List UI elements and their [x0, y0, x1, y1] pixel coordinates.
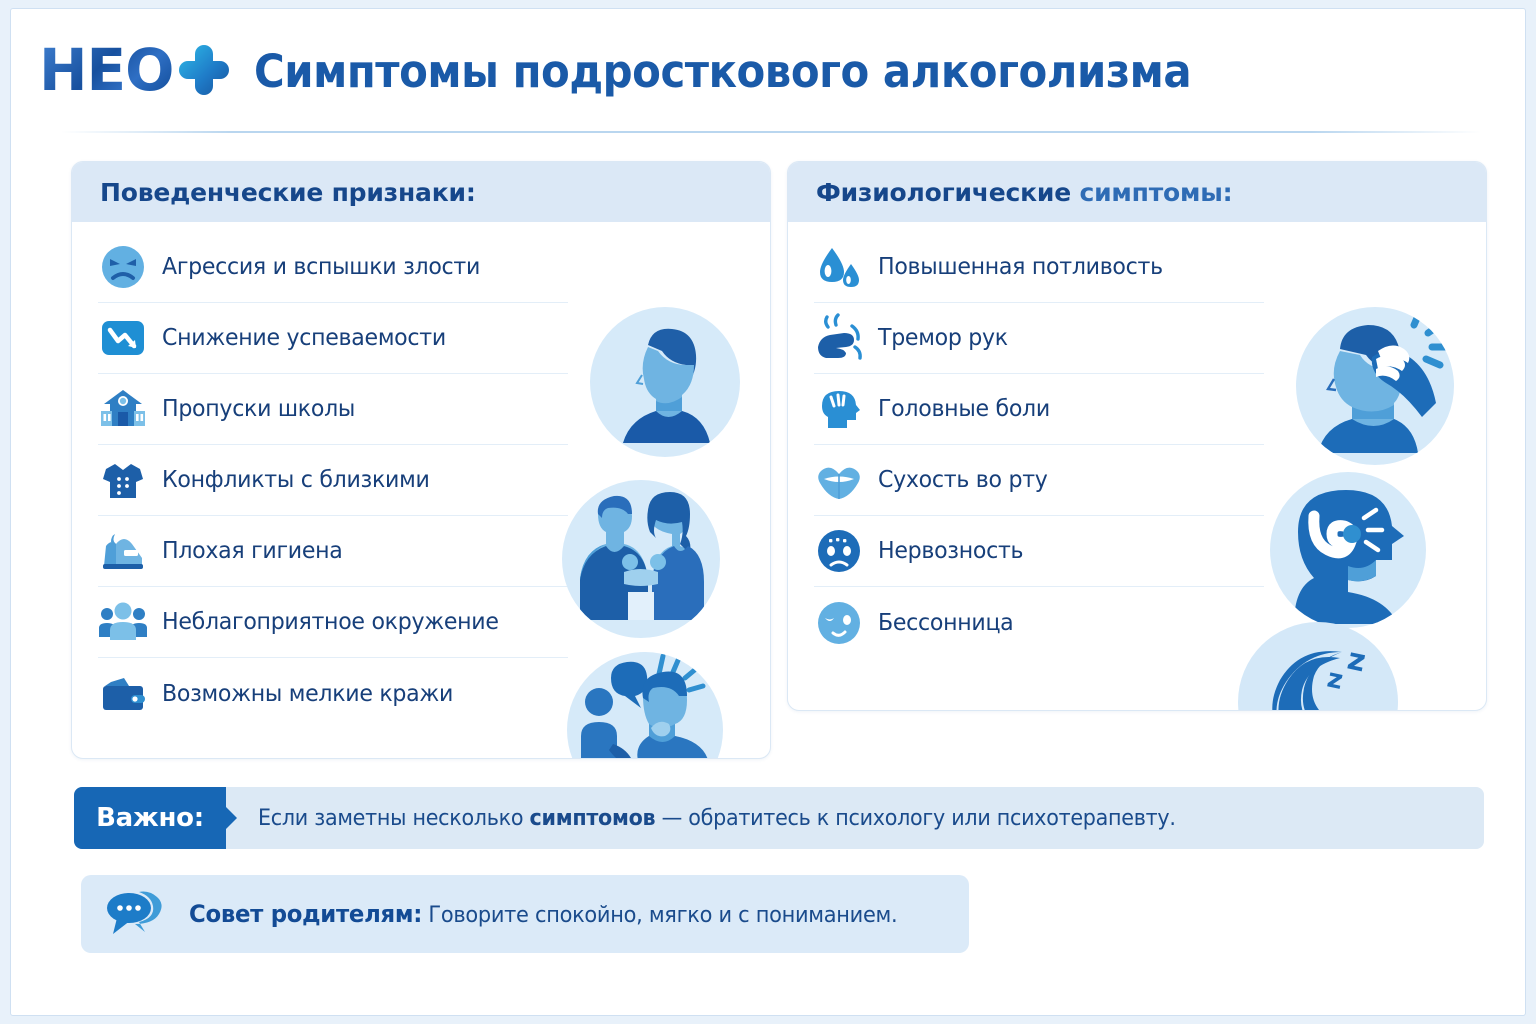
lips-icon: [814, 455, 864, 505]
school-building-icon: [98, 384, 148, 434]
panel-behavioral-signs: Поведенческие признаки: Агрессия и вспыш…: [71, 161, 771, 759]
list-item-label: Сухость во рту: [878, 467, 1048, 493]
laundry-bag-icon: [98, 526, 148, 576]
speech-bubble-icon: [105, 888, 171, 940]
page-title: Симптомы подросткового алкоголизма: [254, 45, 1191, 98]
important-badge-label: Важно:: [96, 803, 204, 833]
header: НЕО Симптомы подросткового алкоголизма: [11, 9, 1525, 129]
list-item-label: Неблагоприятное окружение: [162, 609, 499, 635]
declining-chart-icon: [98, 313, 148, 363]
important-badge: Важно:: [74, 787, 226, 849]
brand-logo: НЕО: [39, 39, 231, 101]
list-item-label: Бессонница: [878, 610, 1013, 636]
list-item-label: Агрессия и вспышки злости: [162, 254, 480, 280]
list-item[interactable]: Повышенная потливость: [814, 232, 1264, 303]
advice-text: Совет родителям: Говорите спокойно, мягк…: [189, 900, 897, 928]
behavioral-list: Агрессия и вспышки злости Снижение успев…: [98, 232, 568, 729]
angry-face-icon: [98, 242, 148, 292]
head-brain-ache-illustration: [1270, 472, 1426, 628]
list-item[interactable]: Агрессия и вспышки злости: [98, 232, 568, 303]
panel-physiological-body: Повышенная потливость Тремор рук: [788, 222, 1486, 710]
panel-behavioral-body: Агрессия и вспышки злости Снижение успев…: [72, 222, 770, 758]
list-item[interactable]: Возможны мелкие кражи: [98, 658, 568, 729]
shaking-hand-icon: [814, 313, 864, 363]
list-item[interactable]: Пропуски школы: [98, 374, 568, 445]
list-item-label: Возможны мелкие кражи: [162, 681, 453, 707]
list-item[interactable]: Конфликты с близкими: [98, 445, 568, 516]
infographic-page: НЕО Симптомы подросткового алкоголизма П…: [10, 8, 1526, 1016]
list-item-label: Нервозность: [878, 538, 1023, 564]
list-item[interactable]: Неблагоприятное окружение: [98, 587, 568, 658]
list-item-label: Снижение успеваемости: [162, 325, 446, 351]
worried-face-icon: [814, 526, 864, 576]
panel-physiological-title: Физиологические симптомы:: [816, 178, 1232, 207]
list-item-label: Пропуски школы: [162, 396, 355, 422]
list-item[interactable]: Плохая гигиена: [98, 516, 568, 587]
list-item[interactable]: Бессонница: [814, 587, 1264, 658]
list-item[interactable]: Нервозность: [814, 516, 1264, 587]
list-item[interactable]: Тремор рук: [814, 303, 1264, 374]
head-pain-icon: [814, 384, 864, 434]
list-item[interactable]: Головные боли: [814, 374, 1264, 445]
people-group-icon: [98, 597, 148, 647]
tired-face-icon: [814, 598, 864, 648]
plus-icon: [177, 43, 231, 97]
panel-behavioral-title: Поведенческие признаки:: [100, 178, 476, 207]
svg-text:z: z: [1325, 664, 1346, 696]
list-item[interactable]: Сухость во рту: [814, 445, 1264, 516]
teen-profile-portrait-illustration: [590, 307, 740, 457]
tshirt-icon: [98, 455, 148, 505]
important-text: Если заметны несколько симптомов — обрат…: [258, 806, 1176, 831]
headache-person-illustration: [1296, 307, 1454, 465]
logo-wordmark: НЕО: [39, 41, 173, 99]
list-item[interactable]: Снижение успеваемости: [98, 303, 568, 374]
physiological-list: Повышенная потливость Тремор рук: [814, 232, 1264, 658]
callout-advice: Совет родителям: Говорите спокойно, мягк…: [81, 875, 969, 953]
panel-physiological-header: Физиологические симптомы:: [788, 162, 1486, 222]
callout-important: Важно: Если заметны несколько симптомов …: [74, 787, 1484, 849]
counseling-conversation-illustration: [567, 652, 723, 759]
list-item-label: Конфликты с близкими: [162, 467, 430, 493]
header-divider: [61, 131, 1481, 133]
panel-behavioral-header: Поведенческие признаки:: [72, 162, 770, 222]
water-drops-icon: [814, 242, 864, 292]
wallet-icon: [98, 669, 148, 719]
list-item-label: Головные боли: [878, 396, 1050, 422]
badge-arrow-icon: [225, 806, 237, 830]
couple-arguing-illustration: [562, 480, 720, 638]
list-item-label: Повышенная потливость: [878, 254, 1163, 280]
panel-physiological-symptoms: Физиологические симптомы: Повышенная пот…: [787, 161, 1487, 711]
list-item-label: Тремор рук: [878, 325, 1008, 351]
list-item-label: Плохая гигиена: [162, 538, 343, 564]
svg-text:z: z: [1344, 642, 1368, 680]
